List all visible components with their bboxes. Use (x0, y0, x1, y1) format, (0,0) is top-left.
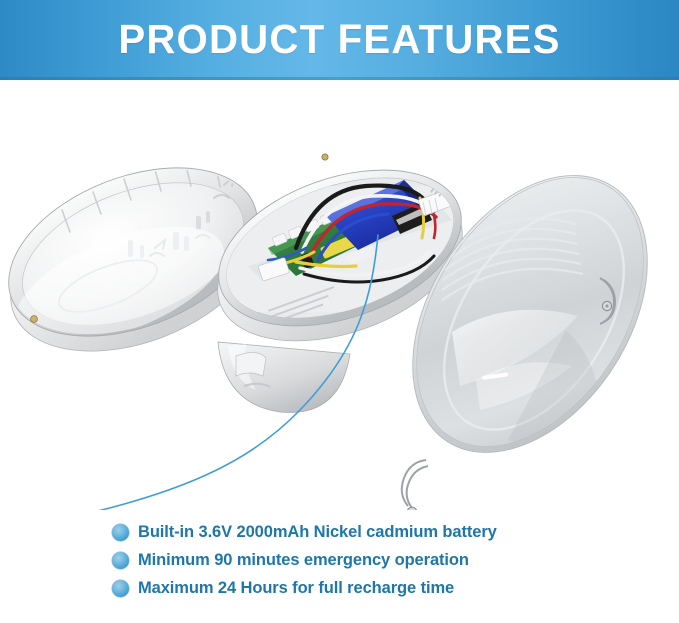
header-banner: PRODUCT FEATURES (0, 0, 679, 80)
feature-text-recharge: Maximum 24 Hours for full recharge time (138, 578, 454, 598)
product-exploded-view-illustration (0, 80, 679, 510)
chassis-dome-knob (218, 342, 350, 413)
page-title: PRODUCT FEATURES (7, 14, 672, 64)
feature-text-runtime: Minimum 90 minutes emergency operation (138, 550, 469, 570)
chassis-knob-slot (236, 352, 266, 376)
feature-item-battery: Built-in 3.6V 2000mAh Nickel cadmium bat… (112, 518, 672, 546)
feature-item-runtime: Minimum 90 minutes emergency operation (112, 546, 672, 574)
feature-text-battery: Built-in 3.6V 2000mAh Nickel cadmium bat… (138, 522, 497, 542)
feature-list: Built-in 3.6V 2000mAh Nickel cadmium bat… (112, 518, 672, 602)
product-features-infographic: PRODUCT FEATURES (0, 0, 679, 623)
lens-clip-bottom-icon (402, 460, 428, 510)
feature-item-recharge: Maximum 24 Hours for full recharge time (112, 574, 672, 602)
bullet-dot-icon (112, 552, 129, 569)
product-photo (0, 80, 679, 510)
back-housing-screw-upper (322, 154, 328, 160)
back-housing-screw-lower (31, 316, 38, 323)
bullet-dot-icon (112, 580, 129, 597)
bullet-dot-icon (112, 524, 129, 541)
